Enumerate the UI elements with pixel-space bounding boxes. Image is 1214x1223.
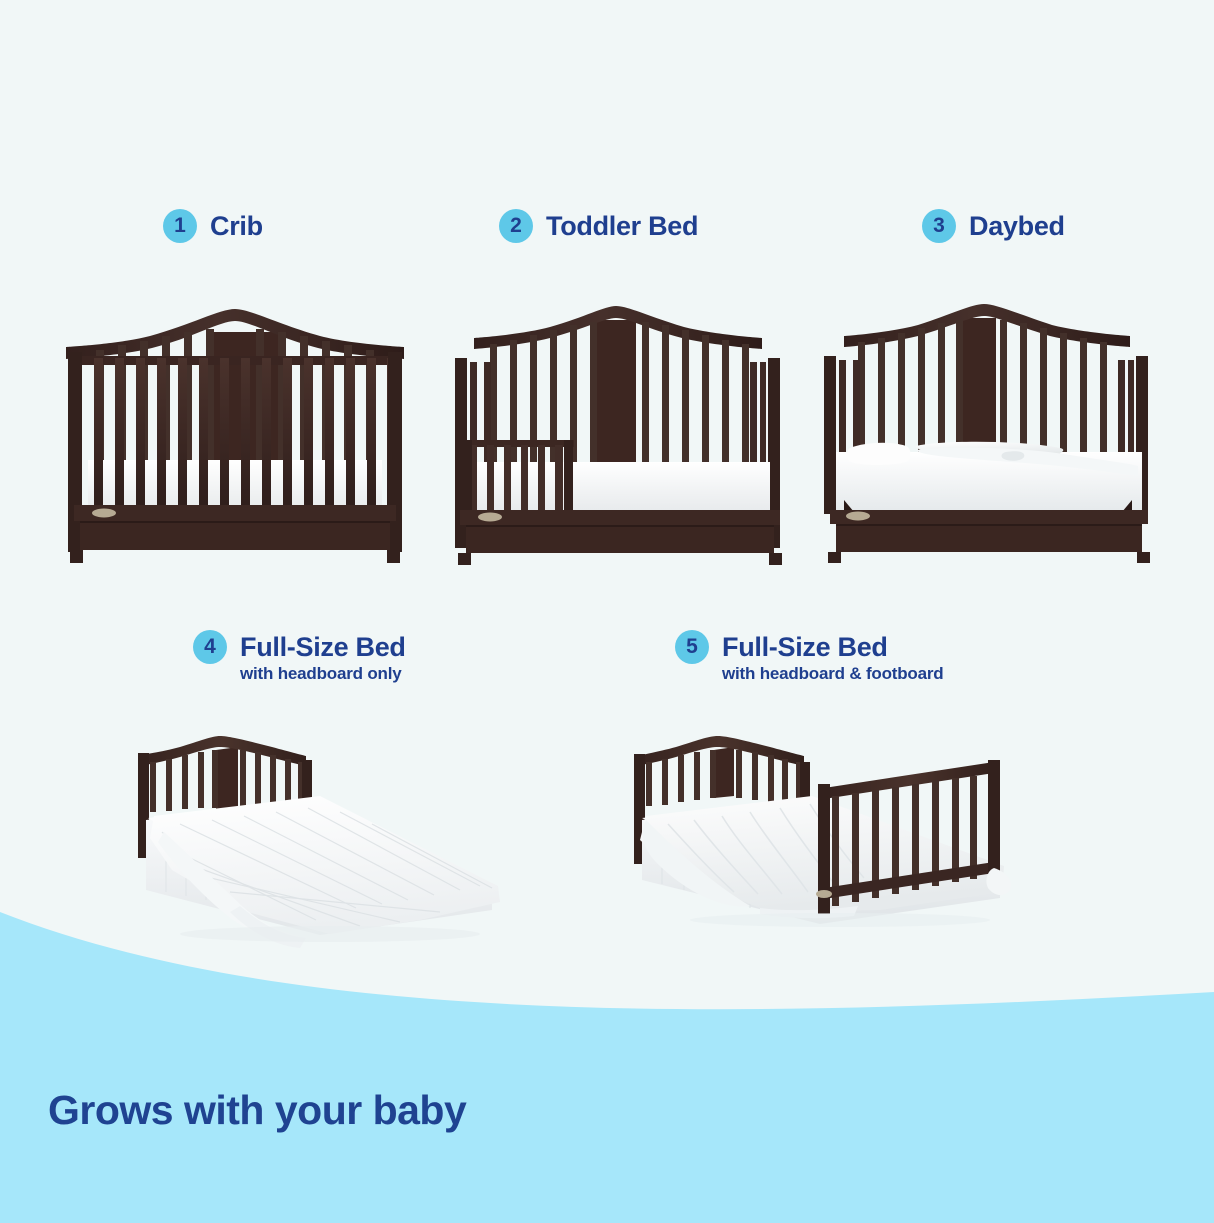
product-image-toddler-bed: [450, 300, 790, 570]
brand-plate: [478, 513, 502, 522]
step-title-4: Full-Size Bed: [240, 630, 406, 664]
step-label-2: 2 Toddler Bed: [499, 209, 698, 243]
step-badge-2: 2: [499, 209, 533, 243]
step-title-2: Toddler Bed: [546, 209, 698, 243]
bottom-wave-band: [0, 880, 1214, 1223]
step-badge-1: 1: [163, 209, 197, 243]
page-headline: Grows with your baby: [48, 1087, 466, 1134]
step-badge-4: 4: [193, 630, 227, 664]
step-label-1: 1 Crib: [163, 209, 263, 243]
step-label-5: 5 Full-Size Bed with headboard & footboa…: [675, 630, 943, 684]
step-title-5: Full-Size Bed: [722, 630, 943, 664]
step-badge-5: 5: [675, 630, 709, 664]
step-badge-3: 3: [922, 209, 956, 243]
step-subtitle-4: with headboard only: [240, 663, 406, 684]
step-title-1: Crib: [210, 209, 263, 243]
product-image-daybed: [820, 300, 1160, 570]
step-label-3: 3 Daybed: [922, 209, 1065, 243]
step-label-4: 4 Full-Size Bed with headboard only: [193, 630, 406, 684]
brand-plate: [92, 509, 116, 518]
step-title-3: Daybed: [969, 209, 1065, 243]
infographic-canvas: 1 Crib: [0, 0, 1214, 1223]
step-subtitle-5: with headboard & footboard: [722, 663, 943, 684]
product-image-crib: [60, 300, 410, 570]
brand-plate: [846, 512, 870, 521]
